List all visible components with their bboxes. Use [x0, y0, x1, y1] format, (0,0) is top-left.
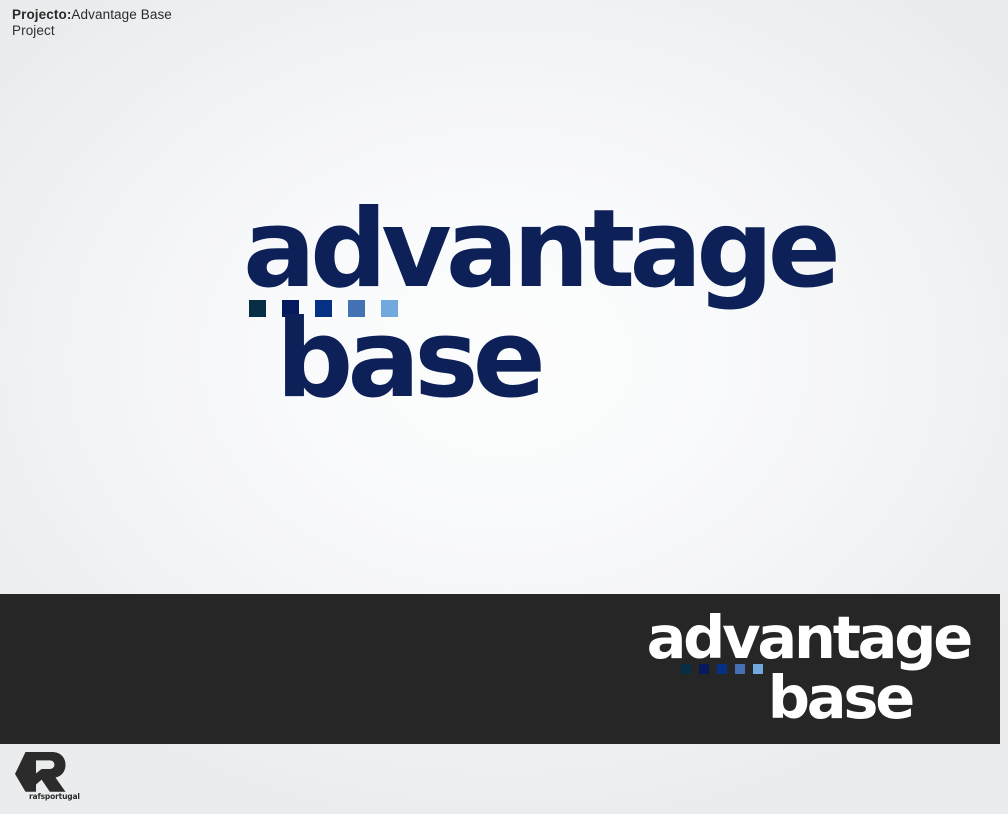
reverse-logo-lockup: advantage base: [670, 608, 970, 728]
agency-r-mark-icon: [12, 750, 68, 794]
project-label: Projecto:: [12, 7, 71, 22]
reverse-square-1-icon: [681, 664, 691, 674]
reverse-square-2-icon: [699, 664, 709, 674]
project-caption: Projecto:Advantage Base Project: [12, 7, 172, 38]
reverse-logo-word-base: base: [768, 668, 912, 727]
reverse-logo-square-row: [681, 664, 763, 674]
logo-word-base: base: [276, 306, 540, 414]
dark-band: advantage base: [0, 594, 1000, 744]
project-subtitle: Project: [12, 23, 172, 38]
reverse-logo-word-advantage: advantage: [647, 608, 970, 667]
reverse-square-4-icon: [735, 664, 745, 674]
square-1-icon: [249, 300, 266, 317]
agency-logo: rafsportugal: [12, 750, 72, 805]
presentation-canvas: Projecto:Advantage Base Project advantag…: [0, 0, 1008, 814]
reverse-square-3-icon: [717, 664, 727, 674]
reverse-square-5-icon: [753, 664, 763, 674]
agency-name: rafsportugal: [29, 792, 80, 801]
primary-logo-lockup: advantage base: [243, 196, 783, 406]
logo-word-advantage: advantage: [243, 196, 835, 304]
project-title: Advantage Base: [71, 7, 171, 22]
